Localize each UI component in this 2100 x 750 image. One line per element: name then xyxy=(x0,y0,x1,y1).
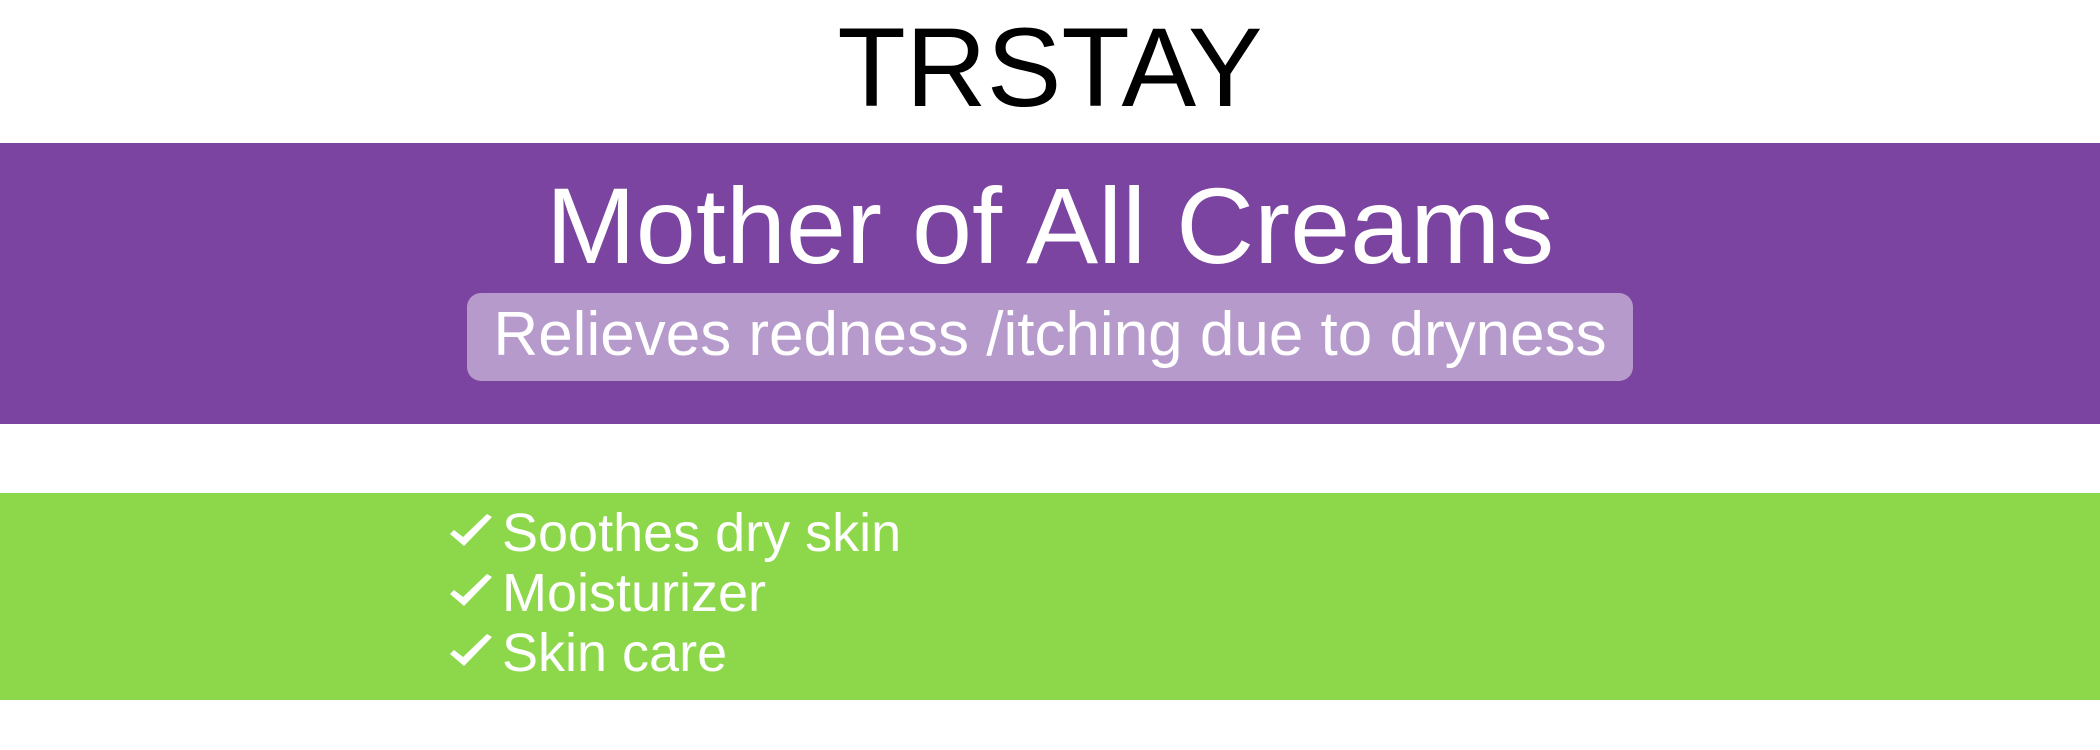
benefit-label: Skin care xyxy=(502,623,727,683)
list-item: Moisturizer xyxy=(440,563,901,623)
benefit-label: Moisturizer xyxy=(502,563,766,623)
benefit-label: Soothes dry skin xyxy=(502,503,901,563)
tagline-container: Relieves redness /itching due to dryness xyxy=(0,293,2100,381)
benefit-list: Soothes dry skin Moisturizer Skin care xyxy=(440,503,901,683)
tagline-pill: Relieves redness /itching due to dryness xyxy=(467,293,1632,381)
brand-strip: TRSTAY xyxy=(0,0,2100,143)
product-headline: Mother of All Creams xyxy=(0,161,2100,291)
hero-band: Mother of All Creams Relieves redness /i… xyxy=(0,143,2100,424)
check-icon xyxy=(440,563,502,623)
check-icon xyxy=(440,503,502,563)
separator-strip xyxy=(0,424,2100,493)
benefits-band: Soothes dry skin Moisturizer Skin care xyxy=(0,493,2100,700)
list-item: Skin care xyxy=(440,623,901,683)
check-icon xyxy=(440,623,502,683)
bottom-strip xyxy=(0,700,2100,750)
product-banner: TRSTAY Mother of All Creams Relieves red… xyxy=(0,0,2100,750)
list-item: Soothes dry skin xyxy=(440,503,901,563)
brand-name: TRSTAY xyxy=(0,0,2100,139)
